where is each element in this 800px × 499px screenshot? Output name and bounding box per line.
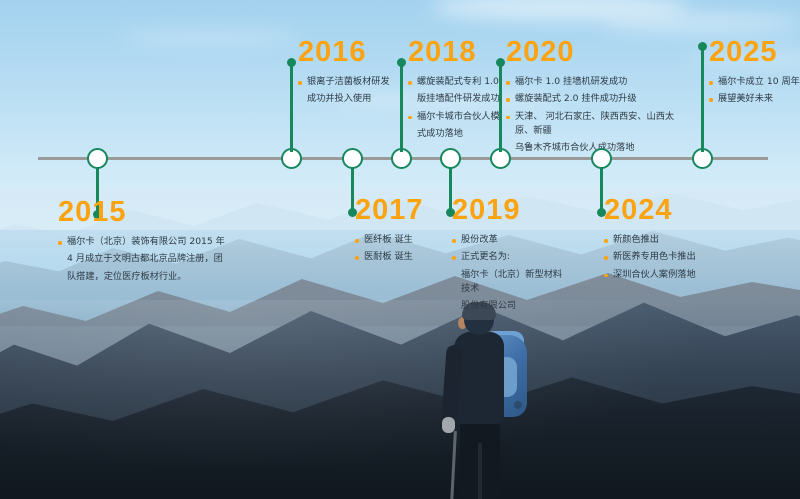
cloud-shape (600, 14, 800, 32)
timeline-bullets-2024: 新颜色推出 新医养专用色卡推出 深圳合伙人案例落地 (604, 233, 724, 282)
timeline-node-2015[interactable] (87, 148, 108, 169)
timeline-stem-2016 (290, 62, 293, 152)
timeline-stem-cap-2016 (287, 58, 296, 67)
cloud-shape (120, 30, 300, 44)
list-item: 螺旋装配式 2.0 挂件成功升级 (506, 92, 686, 106)
timeline-bullets-2015: 福尔卡（北京）装饰有限公司 2015 年 4 月成立于文明古都北京品牌注册，团 … (58, 235, 228, 284)
list-item: 银离子洁菌板材研发 (298, 75, 394, 89)
list-item: 队搭建，定位医疗板材行业。 (58, 270, 228, 284)
timeline-year-2025: 2025 (709, 38, 800, 67)
timeline-node-2019[interactable] (440, 148, 461, 169)
list-item: 天津、 河北石家庄、陕西西安、山西太原、新疆 (506, 110, 686, 139)
timeline-stem-2024 (600, 168, 603, 212)
timeline-year-2015: 2015 (58, 198, 228, 227)
list-item: 股份有限公司 (452, 299, 564, 313)
hiker-torso (454, 332, 504, 424)
timeline-bullets-2019: 股份改革 正式更名为: 福尔卡（北京）新型材料技术 股份有限公司 (452, 233, 564, 313)
timeline-stem-2017 (351, 168, 354, 212)
list-item: 式成功落地 (408, 127, 508, 141)
timeline-stem-2018 (400, 62, 403, 152)
timeline-stem-cap-2018 (397, 58, 406, 67)
list-item: 新颜色推出 (604, 233, 724, 247)
list-item: 新医养专用色卡推出 (604, 250, 724, 264)
timeline-bullets-2018: 螺旋装配式专利 1.0 版挂墙配件研发成功 福尔卡城市合伙人模 式成功落地 (408, 75, 508, 141)
timeline-entry-2025[interactable]: 2025 福尔卡成立 10 周年 展望美好未来 (709, 38, 800, 110)
hiker-figure (432, 305, 552, 499)
timeline-year-2024: 2024 (604, 196, 724, 225)
list-item: 福尔卡城市合伙人模 (408, 110, 508, 124)
timeline-stem-2025 (701, 46, 704, 152)
timeline-year-2020: 2020 (506, 38, 686, 67)
list-item: 正式更名为: (452, 250, 564, 264)
timeline-year-2016: 2016 (298, 38, 394, 67)
list-item: 螺旋装配式专利 1.0 (408, 75, 508, 89)
timeline-entry-2024[interactable]: 2024 新颜色推出 新医养专用色卡推出 深圳合伙人案例落地 (604, 196, 724, 285)
timeline-bullets-2020: 福尔卡 1.0 挂墙机研发成功 螺旋装配式 2.0 挂件成功升级 天津、 河北石… (506, 75, 686, 155)
list-item: 深圳合伙人案例落地 (604, 268, 724, 282)
backpack-buckle (514, 401, 522, 409)
timeline-entry-2016[interactable]: 2016 银离子洁菌板材研发 成功并投入使用 (298, 38, 394, 110)
hiker-leg-split (478, 443, 482, 499)
foreground-shadow-overlay (0, 300, 800, 499)
timeline-infographic: 2015 福尔卡（北京）装饰有限公司 2015 年 4 月成立于文明古都北京品牌… (0, 0, 800, 499)
list-item: 福尔卡成立 10 周年 (709, 75, 800, 89)
trekking-pole (450, 431, 457, 499)
list-item: 版挂墙配件研发成功 (408, 92, 508, 106)
timeline-entry-2020[interactable]: 2020 福尔卡 1.0 挂墙机研发成功 螺旋装配式 2.0 挂件成功升级 天津… (506, 38, 686, 158)
list-item: 医纤板 诞生 (355, 233, 439, 247)
timeline-entry-2017[interactable]: 2017 医纤板 诞生 医耐板 诞生 (355, 196, 439, 268)
timeline-bullets-2025: 福尔卡成立 10 周年 展望美好未来 (709, 75, 800, 107)
timeline-bullets-2016: 银离子洁菌板材研发 成功并投入使用 (298, 75, 394, 107)
timeline-stem-cap-2020 (496, 58, 505, 67)
list-item: 福尔卡 1.0 挂墙机研发成功 (506, 75, 686, 89)
timeline-bullets-2017: 医纤板 诞生 医耐板 诞生 (355, 233, 439, 265)
list-item: 股份改革 (452, 233, 564, 247)
list-item: 4 月成立于文明古都北京品牌注册，团 (58, 252, 228, 266)
timeline-year-2017: 2017 (355, 196, 439, 225)
timeline-entry-2018[interactable]: 2018 螺旋装配式专利 1.0 版挂墙配件研发成功 福尔卡城市合伙人模 式成功… (408, 38, 508, 144)
timeline-stem-cap-2025 (698, 42, 707, 51)
list-item: 福尔卡（北京）装饰有限公司 2015 年 (58, 235, 228, 249)
timeline-entry-2019[interactable]: 2019 股份改革 正式更名为: 福尔卡（北京）新型材料技术 股份有限公司 (452, 196, 564, 316)
list-item: 成功并投入使用 (298, 92, 394, 106)
timeline-node-2024[interactable] (591, 148, 612, 169)
timeline-stem-2020 (499, 62, 502, 152)
list-item: 展望美好未来 (709, 92, 800, 106)
timeline-node-2017[interactable] (342, 148, 363, 169)
list-item: 医耐板 诞生 (355, 250, 439, 264)
timeline-entry-2015[interactable]: 2015 福尔卡（北京）装饰有限公司 2015 年 4 月成立于文明古都北京品牌… (58, 198, 228, 287)
timeline-year-2019: 2019 (452, 196, 564, 225)
timeline-year-2018: 2018 (408, 38, 508, 67)
list-item: 福尔卡（北京）新型材料技术 (452, 268, 564, 297)
